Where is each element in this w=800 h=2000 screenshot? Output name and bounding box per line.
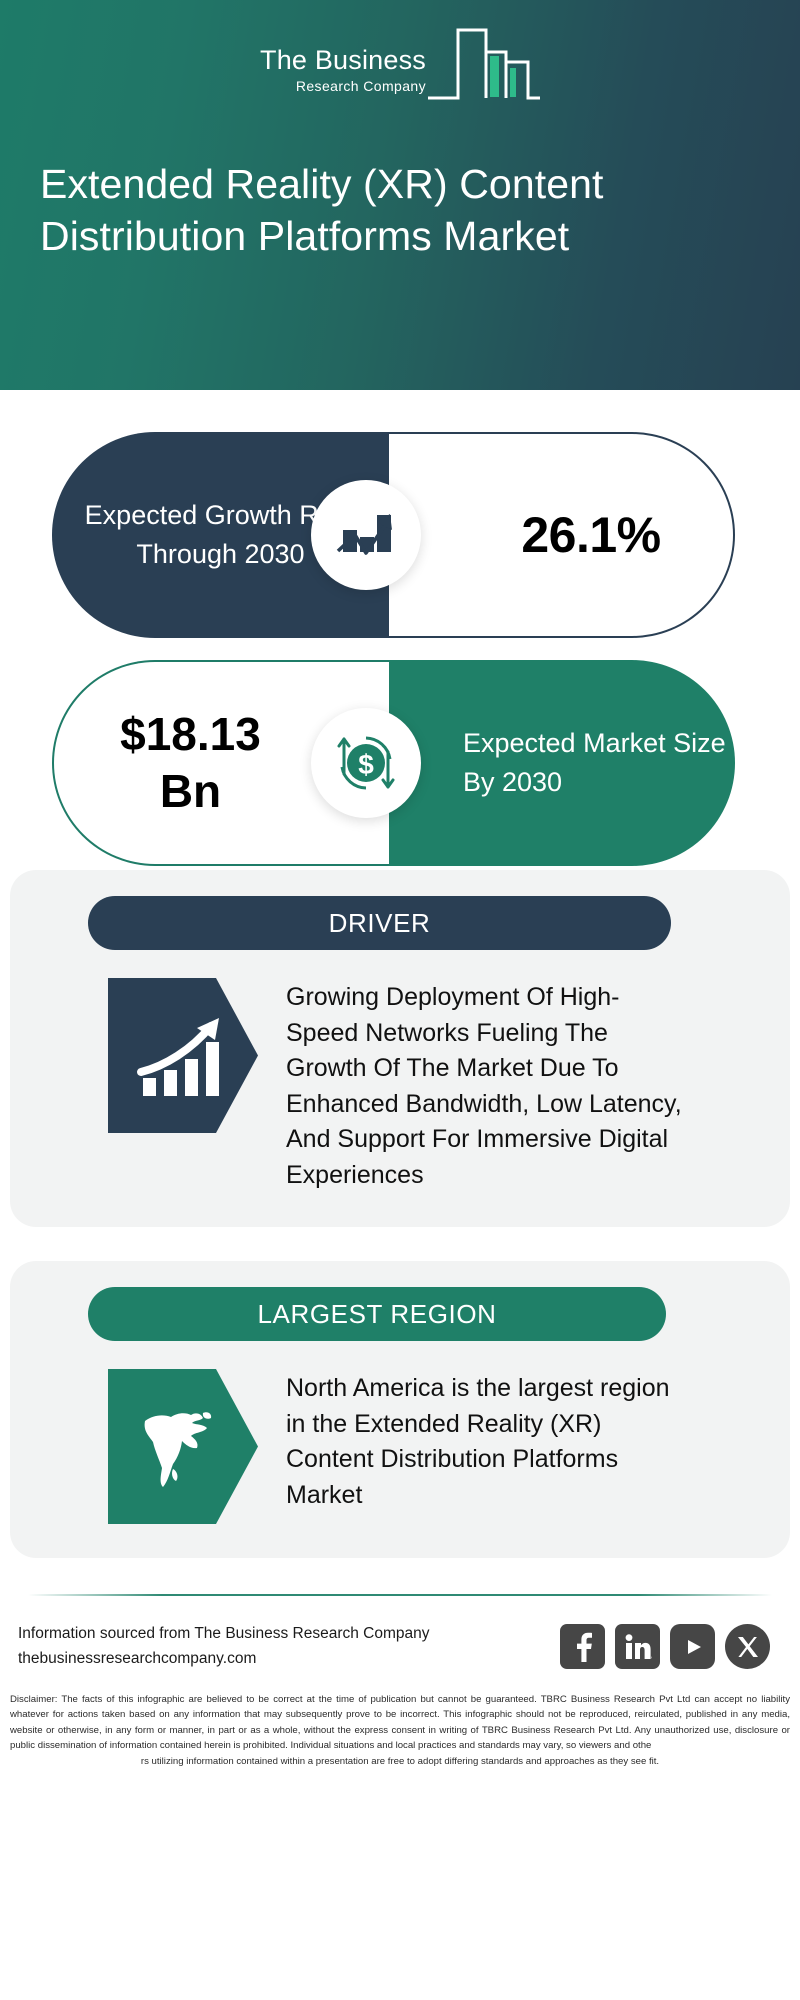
x-twitter-icon[interactable] [725,1624,770,1669]
market-size-label-panel: Expected Market Size By 2030 [389,660,735,866]
brand-logo: The Business Research Company [0,22,800,105]
page-title: Extended Reality (XR) Content Distributi… [40,158,760,263]
growth-rate-value-panel: 26.1% [389,432,735,638]
logo-line-2: Research Company [296,79,426,93]
growth-chart-arrow-icon [311,480,421,590]
market-size-value-line-2: Bn [120,763,261,821]
header-banner: The Business Research Company Extended R… [0,0,800,390]
facebook-icon[interactable] [560,1624,605,1669]
linkedin-icon[interactable]: ™ [615,1624,660,1669]
footer-source: Information sourced from The Business Re… [18,1622,430,1672]
driver-heading: DRIVER [329,908,431,939]
dollar-exchange-icon: $ [311,708,421,818]
market-size-label: Expected Market Size By 2030 [463,724,735,802]
largest-region-heading-pill: LARGEST REGION [88,1287,666,1341]
bar-chart-logo-mark-icon [428,22,540,105]
growth-rate-value: 26.1% [461,506,660,564]
disclaimer-last-line: rs utilizing information contained withi… [10,1754,790,1770]
largest-region-panel: LARGEST REGION North America is the larg… [10,1261,790,1558]
market-size-value: $18.13 Bn [120,706,323,821]
infographic-page: The Business Research Company Extended R… [0,0,800,2000]
driver-body-text: Growing Deployment Of High-Speed Network… [286,978,686,1193]
footer-source-line-1: Information sourced from The Business Re… [18,1622,430,1647]
disclaimer-text: Disclaimer: The facts of this infographi… [0,1672,800,1770]
social-links: ™ [560,1624,770,1669]
stats-section: 26.1% Expected Growth Rate Through 2030 … [0,390,800,870]
youtube-icon[interactable] [670,1624,715,1669]
driver-heading-pill: DRIVER [88,896,671,950]
north-america-map-icon [108,1369,258,1524]
bar-chart-growth-arrow-icon [108,978,258,1133]
market-size-card: $18.13 Bn Expected Market Size By 2030 $ [0,642,800,870]
driver-panel: DRIVER Growing Deployment Of High-Speed … [10,870,790,1227]
svg-text:$: $ [358,749,374,780]
svg-text:™: ™ [650,1655,652,1660]
largest-region-heading: LARGEST REGION [257,1299,496,1330]
disclaimer-main: Disclaimer: The facts of this infographi… [10,1694,790,1752]
footer-source-line-2[interactable]: thebusinessresearchcompany.com [18,1647,430,1672]
footer: Information sourced from The Business Re… [0,1596,800,1672]
largest-region-body-text: North America is the largest region in t… [286,1369,686,1513]
market-size-value-line-1: $18.13 [120,706,261,764]
logo-line-1: The Business [260,47,426,74]
growth-rate-card: 26.1% Expected Growth Rate Through 2030 [0,414,800,642]
